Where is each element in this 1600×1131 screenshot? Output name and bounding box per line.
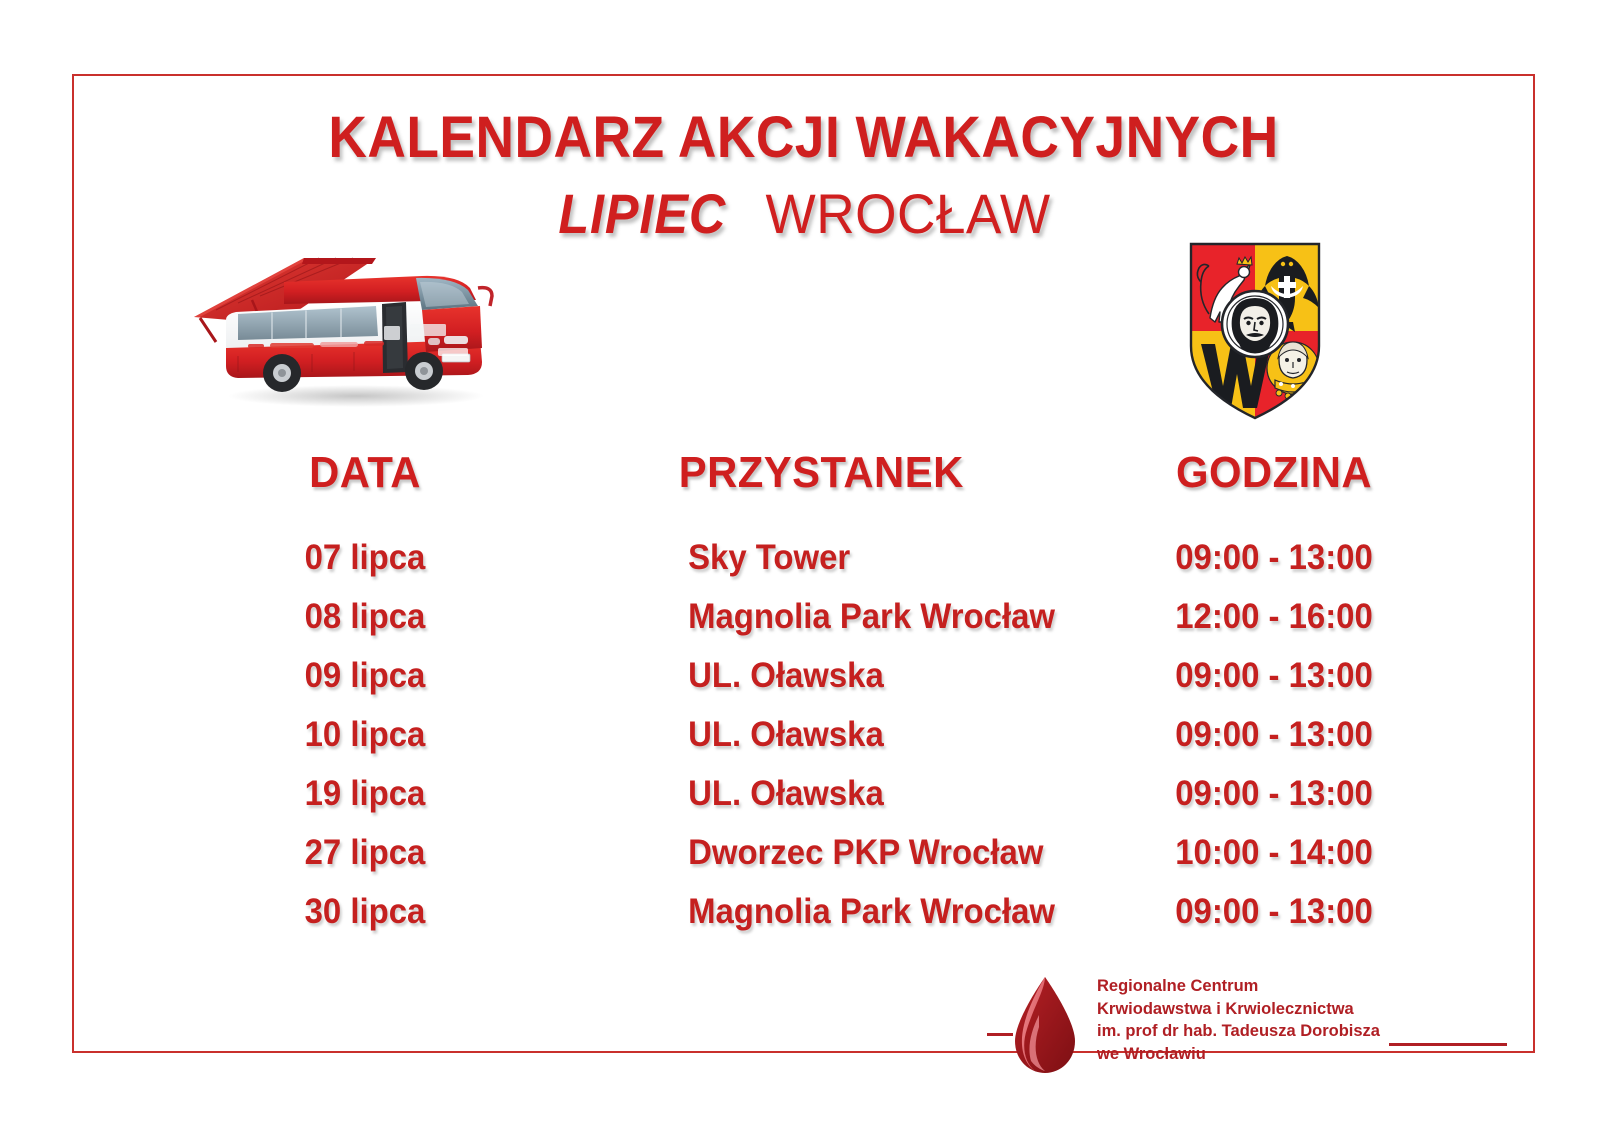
column-header-stop: PRZYSTANEK bbox=[679, 448, 1126, 498]
table-row: 10 lipca UL. Oławska 09:00 - 13:00 bbox=[74, 715, 1533, 774]
rckik-logo: Regionalne Centrum Krwiodawstwa i Krwiol… bbox=[1009, 971, 1509, 1081]
row-stop: UL. Oławska bbox=[688, 715, 1130, 755]
schedule-rows: 07 lipca Sky Tower 09:00 - 13:00 08 lipc… bbox=[74, 538, 1533, 951]
poster-page: { "poster": { "title_main": "KALENDARZ A… bbox=[0, 0, 1600, 1131]
row-stop: UL. Oławska bbox=[688, 774, 1130, 814]
blood-donation-bus-image bbox=[186, 244, 506, 409]
row-time: 09:00 - 13:00 bbox=[1114, 656, 1434, 696]
row-date: 30 lipca bbox=[219, 892, 510, 932]
column-header-date: DATA bbox=[218, 448, 513, 498]
rckik-line-2: Krwiodawstwa i Krwiolecznictwa bbox=[1097, 998, 1380, 1021]
row-time: 09:00 - 13:00 bbox=[1114, 774, 1434, 814]
poster-frame: KALENDARZ AKCJI WAKACYJNYCH LIPIECWROCŁA… bbox=[72, 74, 1535, 1053]
poster-subtitle: LIPIECWROCŁAW bbox=[74, 185, 1533, 244]
row-time: 10:00 - 14:00 bbox=[1114, 833, 1434, 873]
row-stop: Magnolia Park Wrocław bbox=[688, 892, 1130, 932]
page-title: KALENDARZ AKCJI WAKACYJNYCH bbox=[132, 108, 1474, 169]
row-stop: UL. Oławska bbox=[688, 656, 1130, 696]
table-row: 30 lipca Magnolia Park Wrocław 09:00 - 1… bbox=[74, 892, 1533, 951]
poster-title-block: KALENDARZ AKCJI WAKACYJNYCH LIPIECWROCŁA… bbox=[74, 108, 1533, 244]
table-row: 09 lipca UL. Oławska 09:00 - 13:00 bbox=[74, 656, 1533, 715]
row-date: 09 lipca bbox=[219, 656, 510, 696]
title-city: WROCŁAW bbox=[765, 185, 1050, 244]
wroclaw-coat-of-arms bbox=[1175, 236, 1335, 426]
row-stop: Sky Tower bbox=[688, 538, 1130, 578]
coat-of-arms-icon bbox=[1175, 236, 1335, 426]
row-stop: Dworzec PKP Wrocław bbox=[688, 833, 1130, 873]
title-month: LIPIEC bbox=[559, 185, 727, 244]
bus-icon bbox=[186, 244, 506, 409]
blood-drop-icon bbox=[1009, 975, 1081, 1077]
rckik-line-1: Regionalne Centrum bbox=[1097, 975, 1380, 998]
rckik-logo-text: Regionalne Centrum Krwiodawstwa i Krwiol… bbox=[1097, 975, 1380, 1065]
column-header-time: GODZINA bbox=[1113, 448, 1436, 498]
table-row: 19 lipca UL. Oławska 09:00 - 13:00 bbox=[74, 774, 1533, 833]
table-row: 07 lipca Sky Tower 09:00 - 13:00 bbox=[74, 538, 1533, 597]
row-date: 10 lipca bbox=[219, 715, 510, 755]
rckik-line-4: we Wrocławiu bbox=[1097, 1043, 1380, 1066]
row-time: 09:00 - 13:00 bbox=[1114, 892, 1434, 932]
table-row: 27 lipca Dworzec PKP Wrocław 10:00 - 14:… bbox=[74, 833, 1533, 892]
row-time: 09:00 - 13:00 bbox=[1114, 715, 1434, 755]
row-date: 27 lipca bbox=[219, 833, 510, 873]
row-stop: Magnolia Park Wrocław bbox=[688, 597, 1130, 637]
logo-rule-right bbox=[1389, 1043, 1507, 1046]
table-row: 08 lipca Magnolia Park Wrocław 12:00 - 1… bbox=[74, 597, 1533, 656]
row-date: 19 lipca bbox=[219, 774, 510, 814]
row-date: 08 lipca bbox=[219, 597, 510, 637]
row-time: 12:00 - 16:00 bbox=[1114, 597, 1434, 637]
row-time: 09:00 - 13:00 bbox=[1114, 538, 1434, 578]
rckik-line-3: im. prof dr hab. Tadeusza Dorobisza bbox=[1097, 1020, 1380, 1043]
row-date: 07 lipca bbox=[219, 538, 510, 578]
